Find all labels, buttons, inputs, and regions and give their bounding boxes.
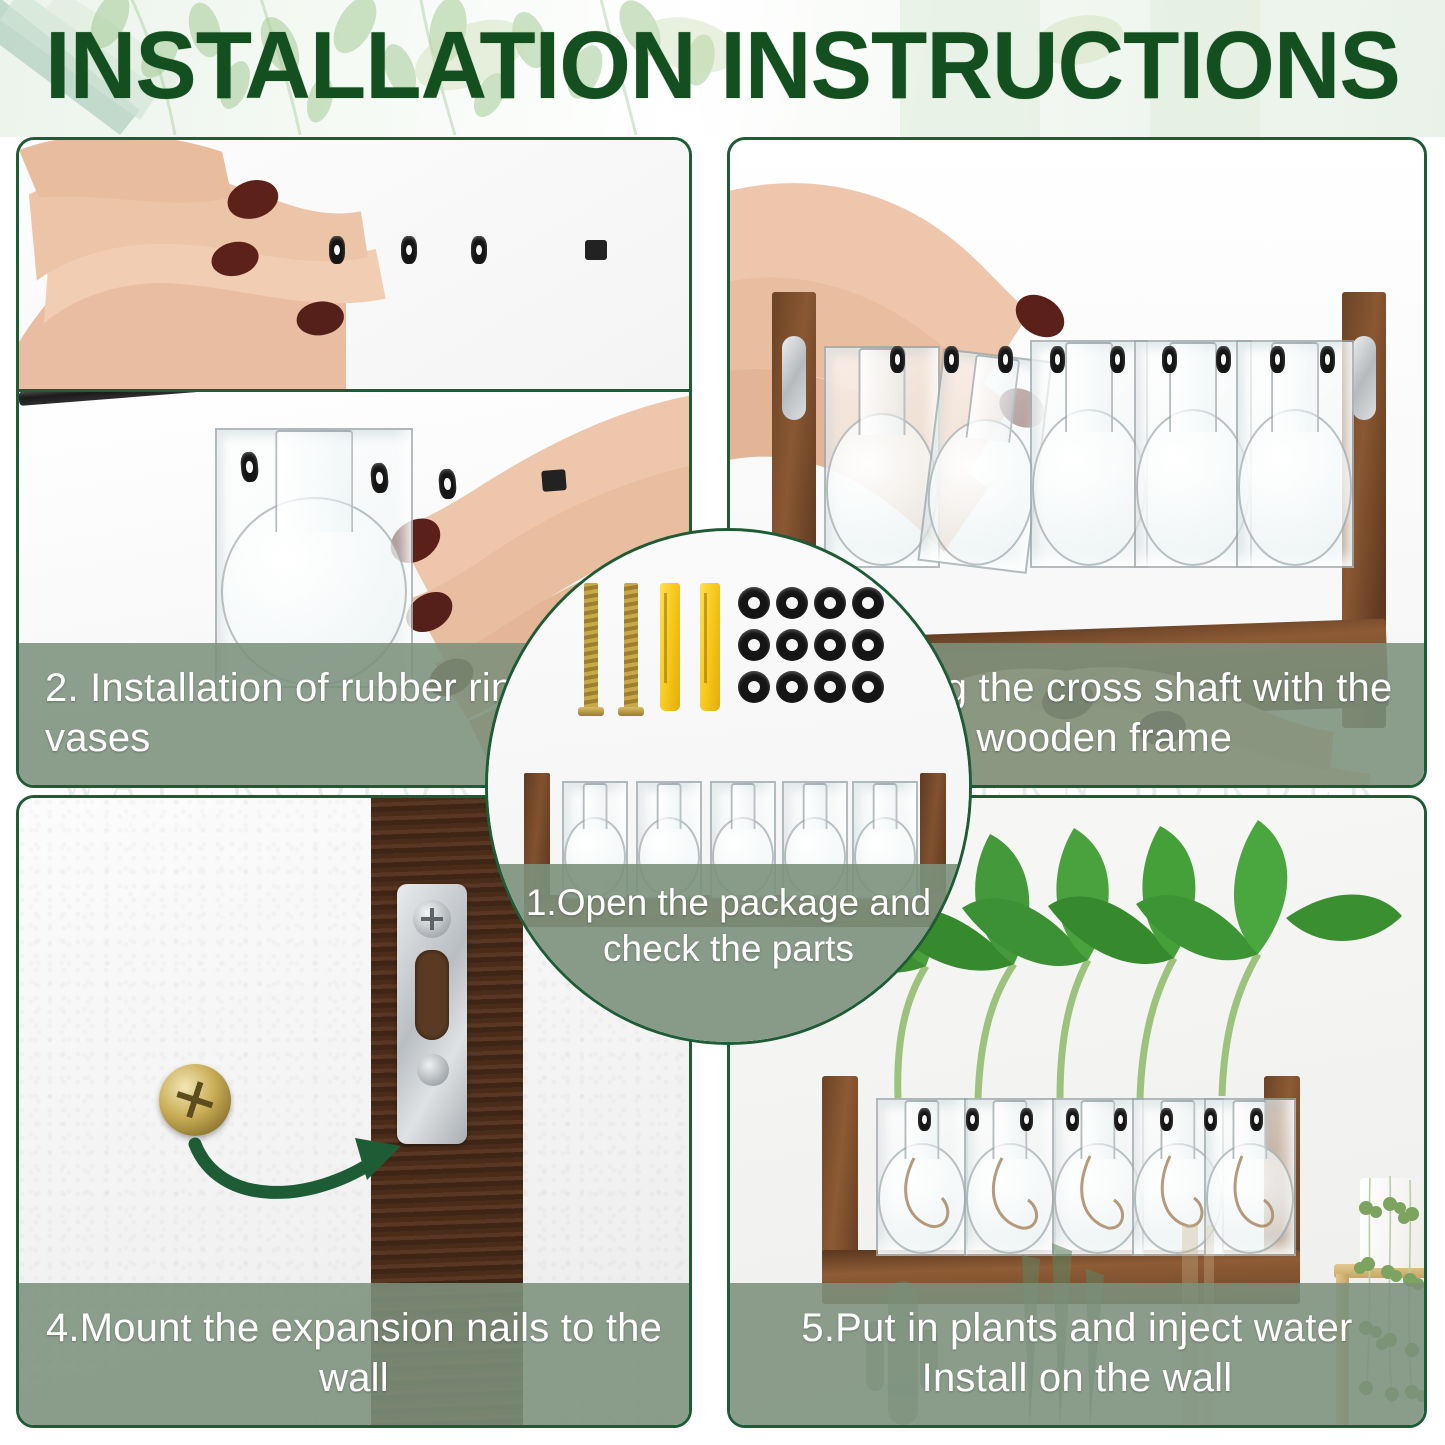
rubber-ring [966, 1108, 979, 1131]
rubber-ring [852, 629, 884, 661]
rubber-ring [814, 629, 846, 661]
rubber-ring [918, 1108, 931, 1131]
step-5-caption-line-2: Install on the wall [756, 1353, 1398, 1403]
rubber-ring [738, 587, 770, 619]
rod-end-cap [585, 240, 607, 260]
rubber-ring [814, 671, 846, 703]
rubber-ring [776, 587, 808, 619]
rubber-ring [471, 236, 487, 264]
rod-end-cap [541, 469, 567, 492]
rubber-ring [1204, 1108, 1217, 1131]
wall-anchor [700, 583, 720, 711]
rubber-ring [738, 629, 770, 661]
page-title: INSTALLATION INSTRUCTIONS [29, 14, 1416, 118]
rubber-ring [1114, 1108, 1127, 1131]
step-4-caption: 4.Mount the expansion nails to the wall [19, 1283, 689, 1425]
rubber-ring [1066, 1108, 1079, 1131]
header-banner: INSTALLATION INSTRUCTIONS [0, 0, 1445, 137]
screw [624, 583, 638, 711]
rubber-ring [329, 236, 345, 264]
wall-anchor [660, 583, 680, 711]
screw-head [618, 707, 644, 716]
step-2-top-photo [16, 137, 692, 389]
rubber-ring [1250, 1108, 1263, 1131]
rubber-ring [401, 236, 417, 264]
step-5-caption: 5.Put in plants and inject water Install… [730, 1283, 1424, 1425]
screw [584, 583, 598, 711]
rubber-ring [776, 671, 808, 703]
rubber-ring [1160, 1108, 1173, 1131]
screw-head [578, 707, 604, 716]
rubber-ring [852, 587, 884, 619]
step-5-caption-line-1: 5.Put in plants and inject water [756, 1303, 1398, 1353]
step-1-caption: 1.Open the package and check the parts [488, 864, 969, 1042]
rubber-ring [814, 587, 846, 619]
rubber-ring [1020, 1108, 1033, 1131]
rubber-ring [852, 671, 884, 703]
infographic-page: INSTALLATION INSTRUCTIONS WATERCOLOR FER… [0, 0, 1445, 1445]
step-1-circle-callout: 1.Open the package and check the parts [485, 528, 972, 1045]
scene-hand-holding-rod [19, 140, 689, 389]
rubber-ring [738, 671, 770, 703]
rubber-ring [776, 629, 808, 661]
